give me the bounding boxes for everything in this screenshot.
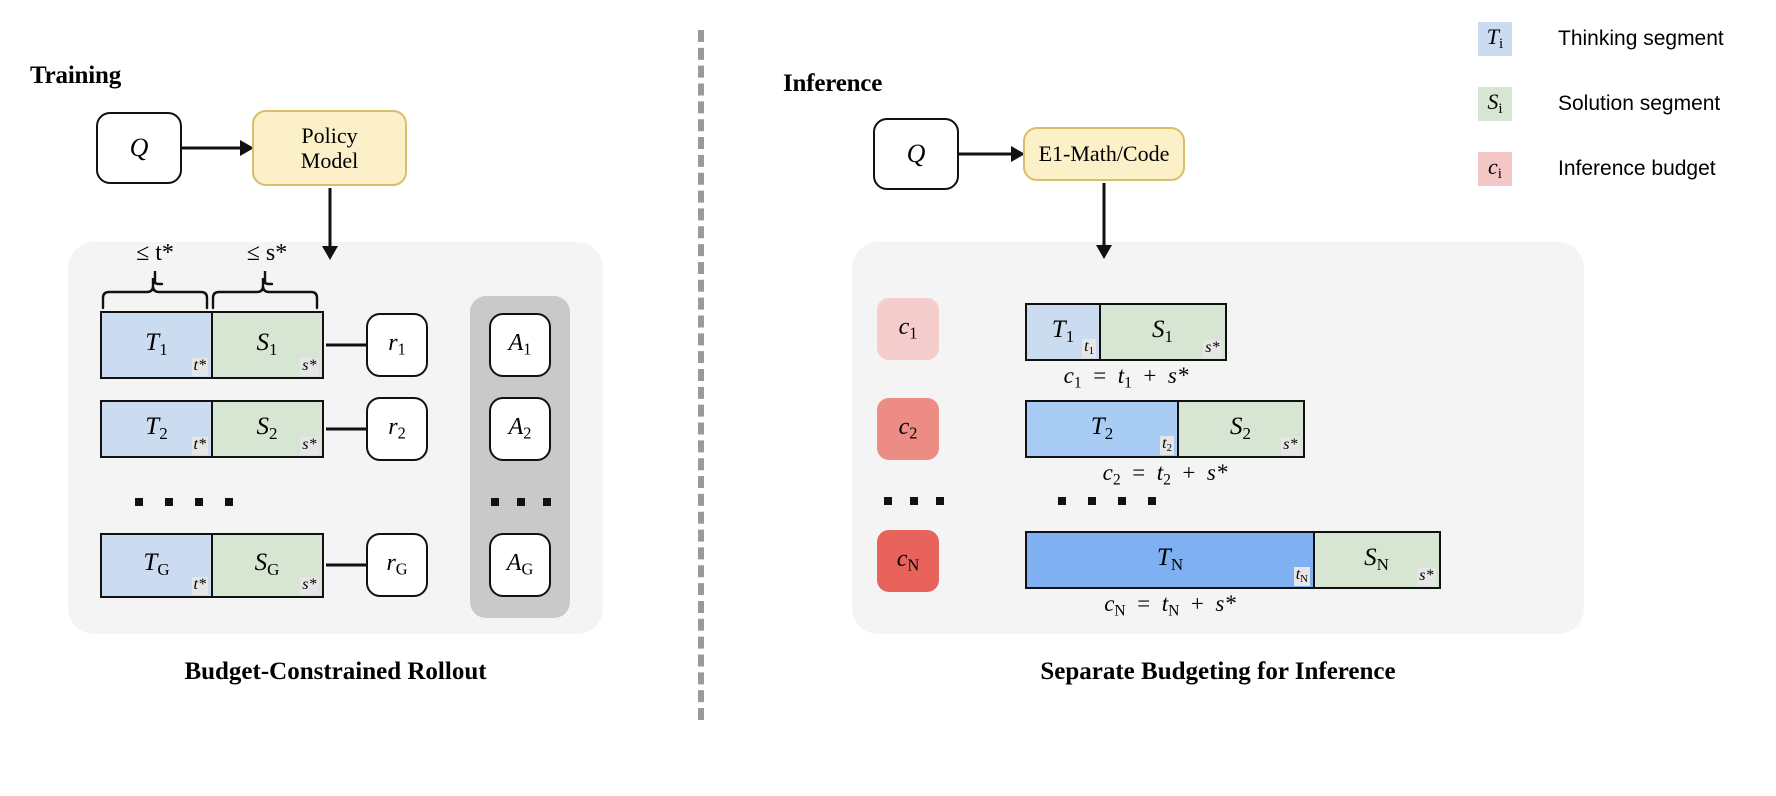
thinking-segment-label: T2 [145, 413, 167, 444]
inference-question-label: Q [907, 139, 926, 169]
budget-formula: c2 = t2 + s* [1025, 460, 1305, 489]
solution-segment-budget: s* [1203, 340, 1221, 358]
thinking-segment-label: T1 [145, 329, 167, 360]
solution-segment[interactable]: S1 s* [1099, 303, 1227, 361]
inference-question-node[interactable]: Q [873, 118, 959, 190]
legend-item-thinking: Ti Thinking segment [1478, 22, 1724, 56]
ellipsis-dot [135, 498, 143, 506]
thinking-segment-budget: tN [1294, 567, 1310, 586]
legend-symbol-solution: Si [1487, 89, 1502, 118]
bound-solution-label: ≤ s* [212, 240, 322, 267]
bound-thinking-label: ≤ t* [100, 240, 210, 267]
panel-divider [698, 30, 704, 720]
inference-model-node[interactable]: E1-Math/Code [1023, 127, 1185, 181]
advantage-ellipsis [491, 498, 551, 506]
ellipsis-dot [936, 497, 944, 505]
solution-segment[interactable]: S2 s* [1177, 400, 1305, 458]
legend-label-budget: Inference budget [1558, 157, 1716, 181]
legend-swatch-budget: ci [1478, 152, 1512, 186]
thinking-segment[interactable]: T1 t1 [1025, 303, 1101, 361]
policy-model-node[interactable]: Policy Model [252, 110, 407, 186]
ellipsis-dot [491, 498, 499, 506]
table-row: T2 t* S2 s* [100, 400, 324, 458]
solution-segment-budget: s* [300, 577, 318, 595]
advantage-label: AG [507, 550, 533, 579]
advantage-label: A2 [509, 414, 532, 443]
budget-chip[interactable]: cN [877, 530, 939, 592]
ellipsis-dot [195, 498, 203, 506]
thinking-segment[interactable]: TG t* [100, 533, 213, 598]
rollout-ellipsis [135, 498, 233, 506]
training-heading: Training [30, 62, 121, 90]
legend-swatch-thinking: Ti [1478, 22, 1512, 56]
ellipsis-dot [1088, 497, 1096, 505]
solution-segment-budget: s* [1417, 568, 1435, 586]
legend-symbol-budget: ci [1488, 154, 1502, 183]
legend-symbol-thinking: Ti [1487, 24, 1503, 53]
reward-node[interactable]: rG [366, 533, 428, 597]
solution-segment-label: S1 [257, 329, 278, 360]
ellipsis-dot [1058, 497, 1066, 505]
solution-segment-budget: s* [300, 437, 318, 455]
thinking-segment-budget: t2 [1160, 436, 1174, 455]
policy-model-label-line2: Model [301, 148, 358, 173]
legend-swatch-solution: Si [1478, 87, 1512, 121]
solution-segment[interactable]: SG s* [211, 533, 324, 598]
thinking-segment-label: TG [143, 549, 169, 580]
advantage-node[interactable]: A2 [489, 397, 551, 461]
ellipsis-dot [517, 498, 525, 506]
table-row: TN tN SN s* [1025, 531, 1441, 589]
inference-heading: Inference [783, 70, 882, 98]
budget-chip-label: cN [897, 546, 919, 576]
thinking-segment-budget: t* [192, 577, 208, 595]
inference-model-label: E1-Math/Code [1039, 141, 1170, 166]
solution-segment-label: SG [255, 549, 280, 580]
solution-segment-label: S2 [257, 413, 278, 444]
thinking-segment-label: TN [1157, 544, 1183, 575]
budget-formula: c1 = t1 + s* [1025, 363, 1227, 392]
legend: Ti Thinking segment Si Solution segment … [1478, 22, 1724, 186]
thinking-segment-budget: t* [192, 437, 208, 455]
reward-node[interactable]: r2 [366, 397, 428, 461]
advantage-label: A1 [509, 330, 532, 359]
solution-segment-budget: s* [300, 358, 318, 376]
policy-model-label-line1: Policy [301, 123, 357, 148]
reward-node[interactable]: r1 [366, 313, 428, 377]
budget-ellipsis [884, 497, 944, 505]
thinking-segment[interactable]: TN tN [1025, 531, 1315, 589]
ellipsis-dot [910, 497, 918, 505]
thinking-segment[interactable]: T2 t2 [1025, 400, 1179, 458]
thinking-segment-budget: t1 [1082, 339, 1096, 358]
table-row: T1 t1 S1 s* [1025, 303, 1227, 361]
legend-item-solution: Si Solution segment [1478, 87, 1724, 121]
training-caption: Budget-Constrained Rollout [68, 658, 603, 686]
thinking-segment[interactable]: T2 t* [100, 400, 213, 458]
solution-segment-label: S2 [1230, 413, 1251, 444]
training-question-label: Q [130, 133, 149, 163]
ellipsis-dot [884, 497, 892, 505]
budget-chip-label: c2 [899, 414, 918, 444]
table-row: T1 t* S1 s* [100, 311, 324, 379]
budget-chip-label: c1 [899, 314, 918, 344]
table-row: T2 t2 S2 s* [1025, 400, 1305, 458]
thinking-segment[interactable]: T1 t* [100, 311, 213, 379]
training-question-node[interactable]: Q [96, 112, 182, 184]
table-row: TG t* SG s* [100, 533, 324, 598]
solution-segment[interactable]: S1 s* [211, 311, 324, 379]
arrow-question-to-model [182, 132, 254, 164]
thinking-segment-budget: t* [192, 358, 208, 376]
arrow-inference-model-to-rows [1088, 183, 1120, 259]
ellipsis-dot [225, 498, 233, 506]
advantage-node[interactable]: A1 [489, 313, 551, 377]
reward-label: rG [386, 550, 407, 579]
budget-formula: cN = tN + s* [1025, 591, 1315, 620]
solution-segment-label: SN [1364, 544, 1389, 575]
ellipsis-dot [1148, 497, 1156, 505]
advantage-node[interactable]: AG [489, 533, 551, 597]
solution-segment-budget: s* [1281, 437, 1299, 455]
legend-label-solution: Solution segment [1558, 92, 1720, 116]
legend-item-budget: ci Inference budget [1478, 152, 1724, 186]
thinking-segment-label: T2 [1091, 413, 1113, 444]
ellipsis-dot [1118, 497, 1126, 505]
reward-label: r2 [388, 414, 406, 443]
thinking-segment-label: T1 [1052, 316, 1074, 347]
arrow-question-to-inference-model [959, 138, 1025, 170]
budget-chip[interactable]: c1 [877, 298, 939, 360]
ellipsis-dot [165, 498, 173, 506]
inference-caption: Separate Budgeting for Inference [852, 658, 1584, 686]
legend-label-thinking: Thinking segment [1558, 27, 1724, 51]
reward-label: r1 [388, 330, 406, 359]
solution-segment-label: S1 [1152, 316, 1173, 347]
brace-group [100, 268, 320, 310]
solution-segment[interactable]: SN s* [1313, 531, 1441, 589]
ellipsis-dot [543, 498, 551, 506]
budget-chip[interactable]: c2 [877, 398, 939, 460]
solution-segment[interactable]: S2 s* [211, 400, 324, 458]
inference-row-ellipsis [1058, 497, 1156, 505]
